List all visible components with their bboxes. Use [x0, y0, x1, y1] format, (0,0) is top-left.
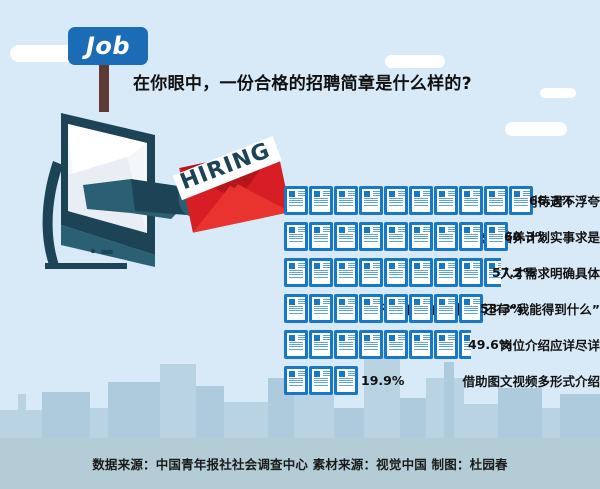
- document-icon: [409, 186, 433, 215]
- row-icons: [284, 293, 484, 323]
- cloud-top-right: [385, 55, 445, 68]
- row-value: 66.3%: [529, 185, 572, 215]
- document-icon: [434, 222, 458, 251]
- chart-row: 不仅有“你要什么”还有“我能得到什么” 53.3%: [0, 293, 600, 329]
- chart-row: 岗位介绍应详尽详 49.6%: [0, 329, 600, 365]
- document-icon: [309, 366, 333, 395]
- cloud-small-right: [540, 88, 576, 98]
- row-value: 53.3%: [480, 293, 523, 323]
- row-icons: [284, 221, 509, 251]
- chart-row: 人才需求明确具体 57.2%: [0, 257, 600, 293]
- document-icon: [284, 186, 308, 215]
- document-icon: [434, 258, 458, 287]
- document-icon: [309, 222, 333, 251]
- cloud-mid-right: [505, 122, 567, 136]
- document-icon: [284, 330, 308, 359]
- document-icon: [284, 258, 308, 287]
- document-icon: [284, 294, 308, 323]
- document-icon: [359, 186, 383, 215]
- row-value: 57.2%: [492, 257, 535, 287]
- document-icon: [434, 330, 458, 359]
- document-icon: [434, 294, 458, 323]
- document-icon: [359, 330, 383, 359]
- row-icons: [284, 257, 502, 287]
- job-sign-label: Job: [68, 27, 148, 65]
- document-icon: [409, 258, 433, 287]
- document-icon: [309, 186, 333, 215]
- document-icon: [334, 258, 358, 287]
- page-title: 在你眼中，一份合格的招聘简章是什么样的?: [133, 69, 472, 94]
- document-icon: [409, 294, 433, 323]
- document-icon: [334, 330, 358, 359]
- document-icon: [384, 330, 408, 359]
- source-credit: 数据来源：中国青年报社社会调查中心 素材来源：视觉中国 制图：杜园春: [92, 454, 508, 473]
- row-value: 60.3%: [504, 221, 547, 251]
- infographic-canvas: Job 在你眼中，一份合格的招聘简章是什么样的?: [0, 0, 600, 489]
- document-icon: [334, 186, 358, 215]
- document-icon: [334, 366, 358, 395]
- document-icon: [309, 330, 333, 359]
- document-icon: [459, 186, 483, 215]
- document-icon: [309, 294, 333, 323]
- document-icon: [284, 222, 308, 251]
- document-icon: [384, 222, 408, 251]
- document-icon: [434, 186, 458, 215]
- document-icon: [459, 258, 483, 287]
- document-icon: [484, 186, 508, 215]
- document-icon: [309, 258, 333, 287]
- row-value: 49.6%: [468, 329, 511, 359]
- document-icon: [409, 222, 433, 251]
- document-icon: [384, 258, 408, 287]
- document-icon: [284, 366, 308, 395]
- footer-band: 数据来源：中国青年报社社会调查中心 素材来源：视觉中国 制图：杜园春: [0, 438, 600, 489]
- chart-row: 借助图文视频多形式介绍 19.9%: [0, 365, 600, 401]
- document-icon: [334, 222, 358, 251]
- pictogram-chart: 福利待遇不浮夸 66.3% 岗位培养计划实事求是: [0, 185, 600, 401]
- chart-row: 岗位培养计划实事求是 60.3%: [0, 221, 600, 257]
- row-icons: [284, 185, 534, 215]
- row-icons: [284, 329, 472, 359]
- document-icon: [384, 294, 408, 323]
- document-icon: [334, 294, 358, 323]
- document-icon: [384, 186, 408, 215]
- row-value: 19.9%: [361, 365, 404, 395]
- document-icon: [359, 258, 383, 287]
- job-sign: Job: [68, 27, 148, 65]
- row-icons: [284, 365, 359, 395]
- document-icon: [409, 330, 433, 359]
- document-icon: [459, 222, 483, 251]
- document-icon: [359, 294, 383, 323]
- chart-row: 福利待遇不浮夸 66.3%: [0, 185, 600, 221]
- document-icon: [359, 222, 383, 251]
